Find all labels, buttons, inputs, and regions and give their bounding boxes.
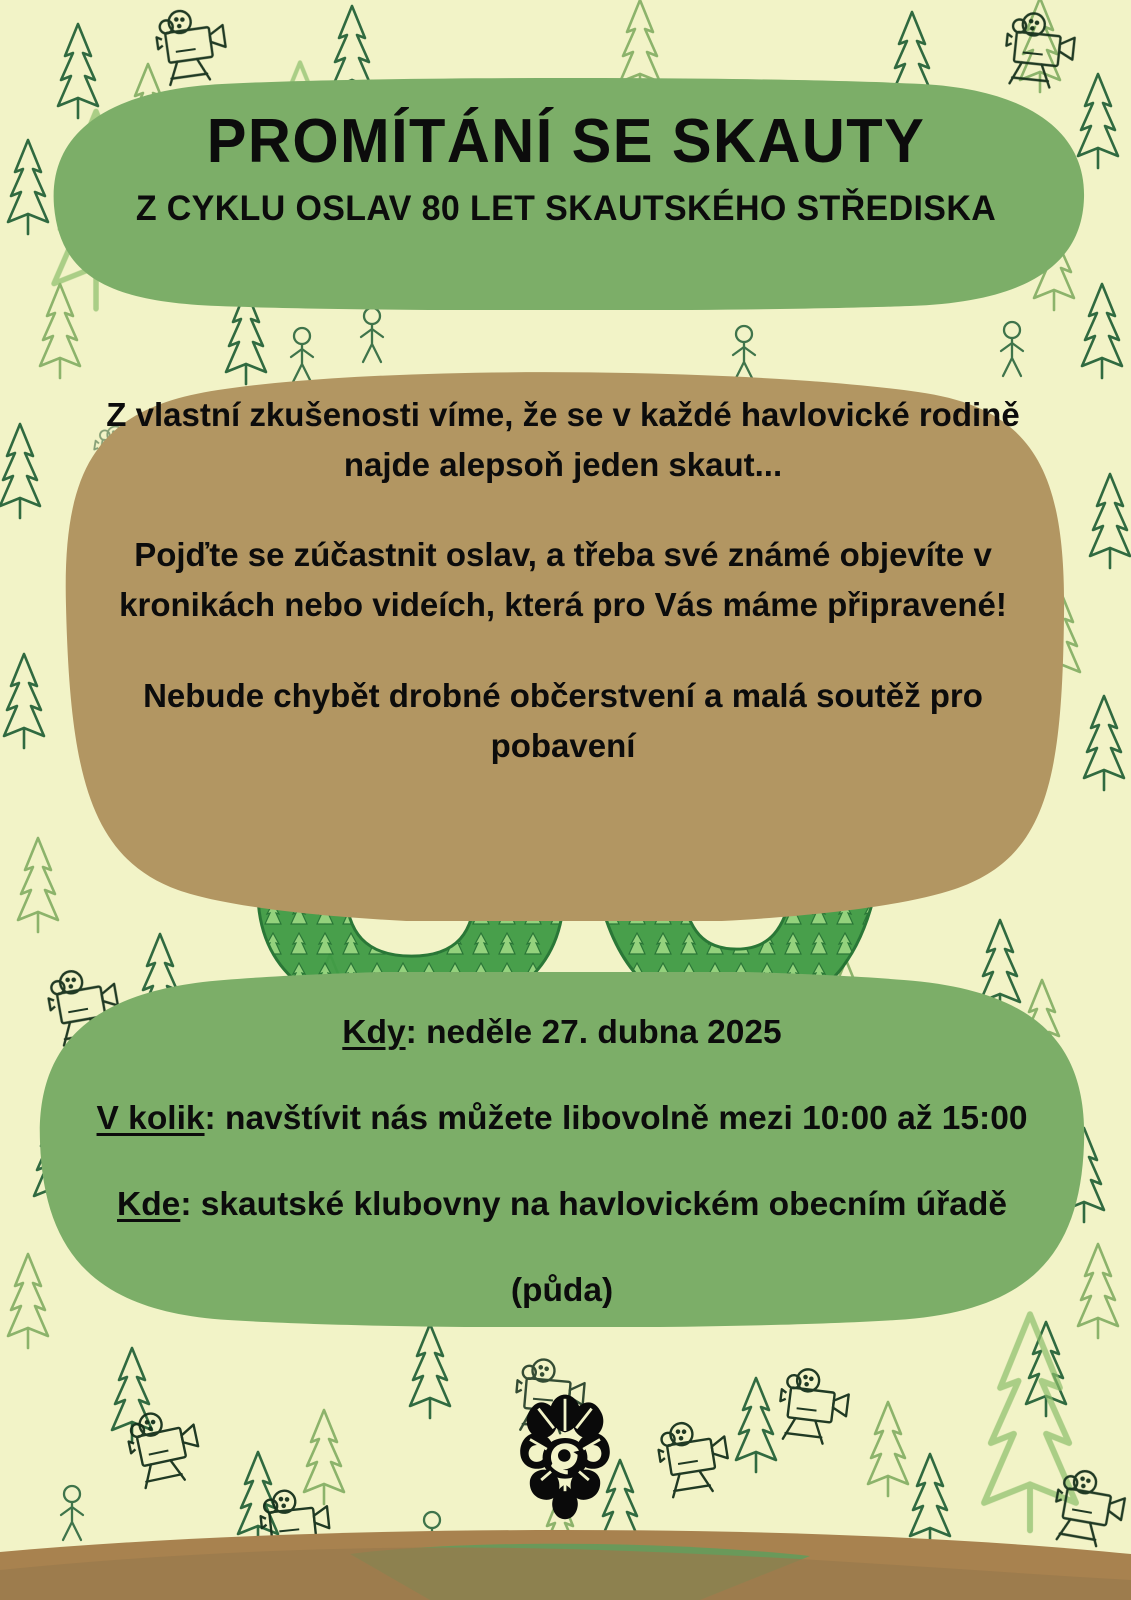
details-blob-shape (34, 972, 1090, 1327)
poster-canvas: 80 PROMÍTÁNÍ SE SKAUTY Z CYKLU OSLAV 80 … (0, 0, 1131, 1600)
header-blob-shape (42, 78, 1090, 310)
ground-strip (0, 1530, 1131, 1600)
body-blob-shape (58, 356, 1068, 921)
scout-fleur-de-lis-rose-logo (495, 1382, 635, 1522)
scout-emblem-icon (495, 1382, 635, 1522)
